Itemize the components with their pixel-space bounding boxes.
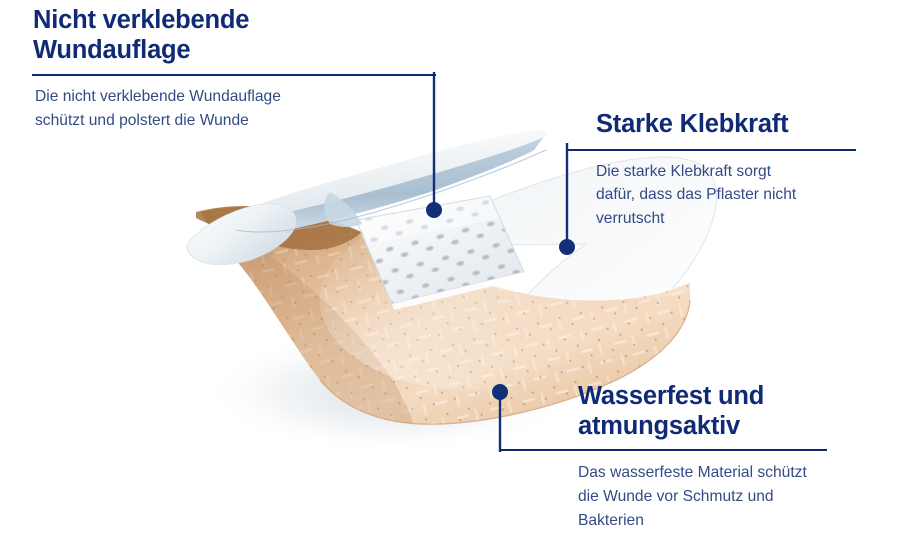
- non-adherent-wound-pad: [340, 180, 560, 320]
- callout-adhesion: Starke Klebkraft Die starke Klebkraft so…: [566, 110, 856, 231]
- callout-wound-pad: Nicht verklebende Wundauflage Die nicht …: [32, 6, 436, 133]
- callout-adhesion-title: Starke Klebkraft: [566, 110, 856, 140]
- callout-wound-pad-body: Die nicht verklebende Wundauflage schütz…: [32, 85, 436, 132]
- wound-pad-marker-dot: [426, 202, 442, 218]
- callout-adhesion-rule: [566, 149, 856, 151]
- peel-off-protective-film: [187, 130, 547, 265]
- callout-waterproof: Wasserfest und atmungsaktiv Das wasserfe…: [499, 382, 827, 532]
- adhesion-marker-dot: [559, 239, 575, 255]
- callout-waterproof-rule: [499, 449, 827, 451]
- callout-wound-pad-title: Nicht verklebende Wundauflage: [32, 6, 436, 65]
- callout-waterproof-title: Wasserfest und atmungsaktiv: [499, 382, 827, 441]
- callout-waterproof-body: Das wasserfeste Material schützt die Wun…: [499, 461, 827, 532]
- callout-wound-pad-rule: [32, 74, 436, 76]
- infographic-canvas: Nicht verklebende Wundauflage Die nicht …: [0, 0, 900, 557]
- callout-adhesion-body: Die starke Klebkraft sorgt dafür, dass d…: [566, 160, 856, 231]
- plaster-underside-edge: [196, 206, 362, 250]
